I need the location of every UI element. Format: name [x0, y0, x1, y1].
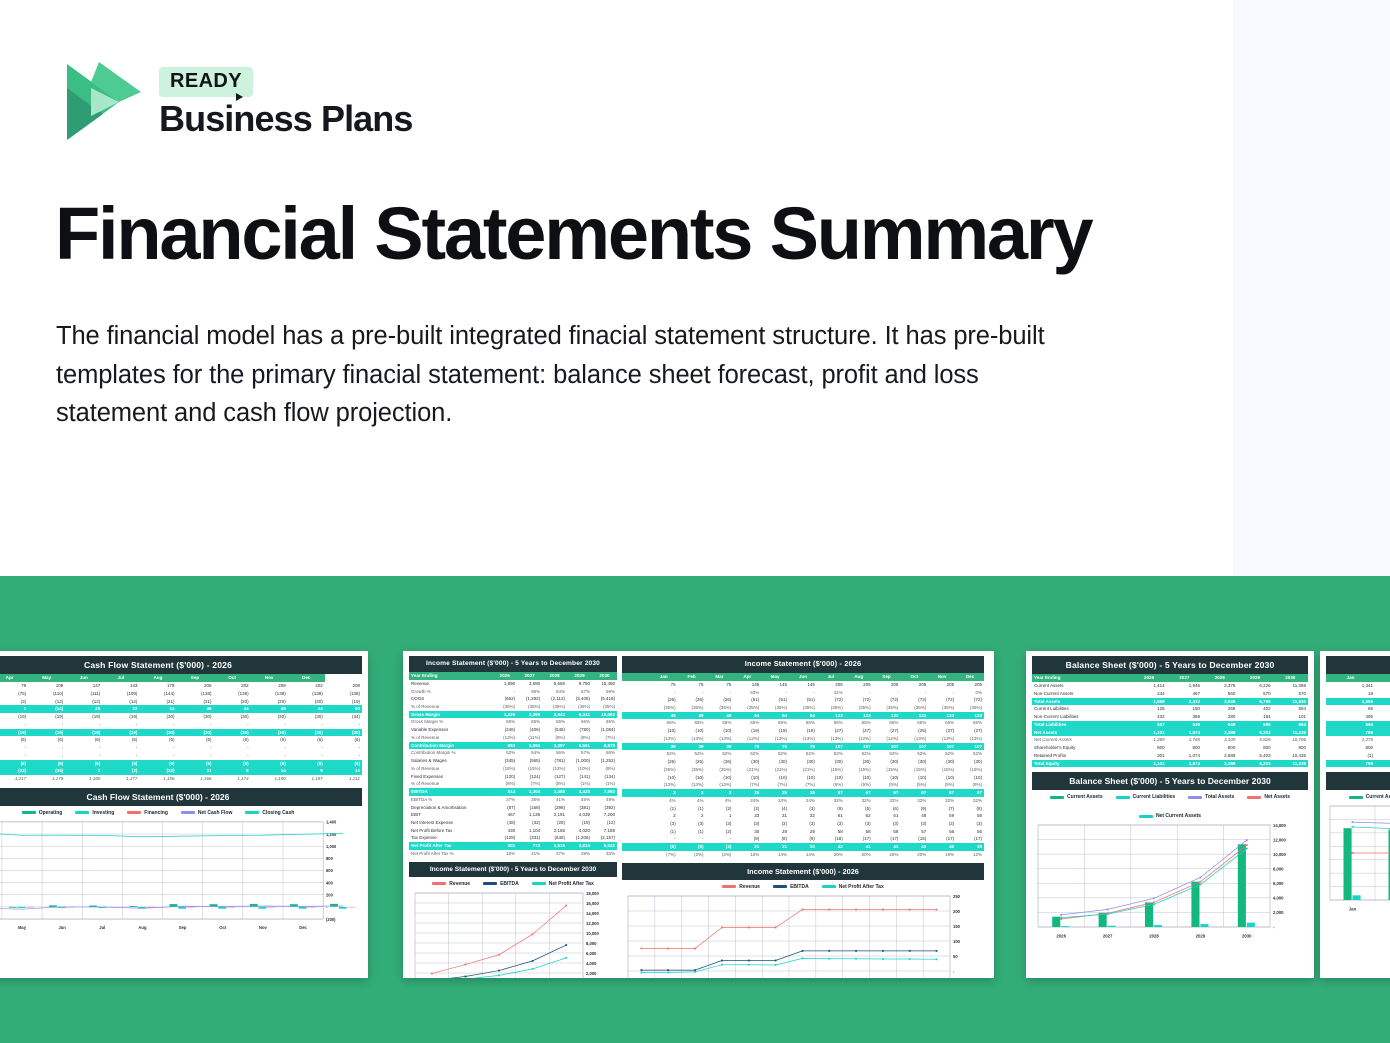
table-cell: 49 — [678, 712, 706, 720]
table-cell: 49 — [706, 712, 734, 720]
table-cell: (20) — [214, 698, 251, 706]
table-row: EBITDA %27%35%41%45%49% — [409, 796, 617, 804]
table-cell: 67% — [567, 688, 592, 696]
table-cell: (19) — [28, 713, 65, 721]
column-header: 2027 — [517, 672, 542, 680]
table-cell: 67 — [817, 789, 845, 797]
table-cell: 3,397 — [542, 742, 567, 750]
table-cell: (15%) — [817, 766, 845, 774]
table-cell: 1,166 — [176, 775, 213, 783]
table-cell: 33% — [592, 850, 617, 858]
legend-swatch — [483, 882, 497, 885]
table-cell: (12) — [28, 698, 65, 706]
table-cell: (138) — [325, 690, 362, 698]
balance-chart-title: Balance Sheet ($'000) - 5 Years to Decem… — [1032, 772, 1308, 790]
table-row: (19)(19)(19)(19)(30)(30)(30)(30)(30)(34) — [0, 713, 362, 721]
table-cell: (3) — [956, 820, 984, 828]
table-cell: (21) — [176, 698, 213, 706]
row-label: EBIT — [409, 811, 492, 819]
cashflow-chart-title: Cash Flow Statement ($'000) - 2026 — [0, 788, 362, 806]
table-row: (26)(26)(26)(30)(30)(30)(30)(30)(30)(30)… — [622, 758, 984, 766]
table-cell: (35%) — [928, 704, 956, 712]
svg-text:4,000: 4,000 — [1273, 896, 1284, 901]
table-cell: 65% — [845, 719, 873, 727]
table-cell: 1,874 — [1167, 729, 1202, 737]
table-cell: (12) — [102, 698, 139, 706]
table-cell: 46 — [176, 705, 213, 713]
table-cell: (30) — [214, 713, 251, 721]
row-label — [622, 696, 650, 704]
table-cell: 44 — [214, 705, 251, 713]
table-cell: 6,341 — [567, 711, 592, 719]
svg-text:14,000: 14,000 — [1273, 823, 1286, 828]
table-cell: (30) — [251, 729, 288, 737]
table-cell: (10) — [761, 774, 789, 782]
row-label — [622, 766, 650, 774]
table-cell: 1 — [65, 767, 102, 775]
table-cell: (3) — [789, 820, 817, 828]
table-cell: 800 — [1167, 744, 1202, 752]
table-cell: (10) — [789, 774, 817, 782]
table-row: Net Current Assets1,2891,7653,1095,82610… — [1032, 736, 1308, 744]
row-label — [622, 820, 650, 828]
table-cell: 65% — [592, 718, 617, 726]
table-cell: (6) — [102, 760, 139, 768]
table-cell: - — [706, 835, 734, 843]
table-cell: - — [65, 752, 102, 760]
table-cell: 52% — [817, 750, 845, 758]
table-cell: (19) — [0, 713, 28, 721]
table-cell: 1,211 — [325, 775, 362, 783]
table-cell: (13%) — [956, 735, 984, 743]
table-cell: 178 — [139, 682, 176, 690]
table-cell: 208 — [251, 682, 288, 690]
table-cell: 3 — [650, 789, 678, 797]
table-cell: (3) — [733, 820, 761, 828]
table-cell: 1,359 — [1326, 698, 1375, 706]
table-cell: 205 — [845, 681, 873, 689]
table-cell: (5) — [650, 843, 678, 851]
table-cell: 1,177 — [102, 775, 139, 783]
income-monthly-table-title: Income Statement ($'000) - 2026 — [622, 656, 984, 673]
table-cell: 1 — [0, 705, 28, 713]
table-cell: (20) — [288, 698, 325, 706]
table-cell: 65% — [873, 719, 901, 727]
table-cell: - — [139, 721, 176, 729]
table-cell: (10) — [928, 774, 956, 782]
table-cell: (75) — [0, 690, 28, 698]
table-cell: (20) — [251, 698, 288, 706]
table-cell: 52% — [956, 750, 984, 758]
table-row: (19)(19)(19)(19)(30)(30)(30)(30)(30)(30) — [0, 729, 362, 737]
table-cell: - — [251, 744, 288, 752]
table-cell: 205 — [956, 681, 984, 689]
column-header: Jun — [65, 674, 102, 682]
table-cell: 147 — [65, 682, 102, 690]
table-cell: 18 — [1326, 690, 1375, 698]
table-cell: (17) — [873, 835, 901, 843]
table-cell: (15) — [900, 835, 928, 843]
table-cell: 2,191 — [542, 811, 567, 819]
svg-text:800: 800 — [326, 856, 334, 861]
table-cell: 67 — [956, 789, 984, 797]
table-row: Current Liabilities125180269402594 — [1032, 705, 1308, 713]
legend-item: Revenue — [432, 881, 470, 887]
row-label — [622, 781, 650, 789]
table-row: (10)(10)(10)(19)(19)(19)(27)(27)(27)(25)… — [622, 727, 984, 735]
table-cell: (17) — [928, 835, 956, 843]
legend-swatch — [1349, 796, 1363, 799]
table-cell: 798 — [1375, 760, 1390, 768]
svg-text:May: May — [18, 925, 27, 930]
table-cell: (10) — [706, 727, 734, 735]
balance-chart-legend: Current AssetsCurrent LiabilitiesTotal A… — [1032, 790, 1308, 821]
table-cell: (5%) — [956, 781, 984, 789]
table-cell: (6) — [28, 760, 65, 768]
table-cell: 16% — [492, 850, 517, 858]
table-cell: (26) — [542, 819, 567, 827]
table-cell: 75 — [761, 743, 789, 751]
table-cell: (35%) — [650, 766, 678, 774]
table-cell: 3 — [678, 789, 706, 797]
table-cell: - — [28, 752, 65, 760]
table-cell: 20% — [817, 851, 845, 859]
table-row: Retained Profits3011,0742,5895,40310,435 — [1032, 752, 1308, 760]
legend-swatch — [75, 811, 89, 814]
table-cell: (6) — [176, 736, 213, 744]
income-monthly-chart-title: Income Statement ($'000) - 2026 — [622, 863, 984, 880]
table-cell: (51) — [761, 696, 789, 704]
table-cell: 3,378 — [1202, 682, 1237, 690]
row-label: % of Revenue — [409, 734, 492, 742]
table-cell: 35 — [733, 789, 761, 797]
table-cell: 402 — [1237, 705, 1272, 713]
svg-text:6,000: 6,000 — [1273, 881, 1284, 886]
legend-swatch — [722, 885, 736, 888]
table-cell: (331) — [517, 834, 542, 842]
table-cell: 1,658 — [1131, 698, 1166, 706]
table-cell: (6) — [0, 760, 28, 768]
balance-monthly-chart: JanFeb — [1326, 802, 1390, 914]
table-cell: 1,217 — [0, 775, 28, 783]
table-cell: 2,589 — [1202, 752, 1237, 760]
table-cell: (13%) — [492, 734, 517, 742]
column-header: Apr — [0, 674, 28, 682]
table-cell: 24% — [761, 797, 789, 805]
table-cell: 694 — [1273, 721, 1308, 729]
table-cell: (12%) — [542, 765, 567, 773]
table-cell: 6,203 — [1237, 729, 1272, 737]
cashflow-screenshot-card[interactable]: Cash Flow Statement ($'000) - 2026 AprMa… — [0, 651, 368, 978]
balance-sheet-screenshot-card[interactable]: Balance Sheet ($'000) - 5 Years to Decem… — [1026, 651, 1314, 978]
table-cell: 145 — [761, 681, 789, 689]
table-cell: (35%) — [567, 703, 592, 711]
table-row: Total Liabilities557539549595694 — [1032, 721, 1308, 729]
table-cell: 32 — [789, 812, 817, 820]
table-row: 1,2171,1791,1801,1771,1561,1661,1741,180… — [0, 775, 362, 783]
legend-swatch — [181, 811, 195, 814]
table-cell: (129) — [492, 834, 517, 842]
income-5yr-chart-legend: RevenueEBITDANet Profit After Tax — [409, 877, 617, 889]
table-cell: (9) — [900, 805, 928, 813]
table-cell: 14% — [789, 851, 817, 859]
svg-text:Jan: Jan — [1349, 907, 1357, 912]
table-cell: (18) — [817, 835, 845, 843]
table-cell: (26) — [678, 758, 706, 766]
table-cell: (381) — [567, 804, 592, 812]
table-cell: 1,993 — [517, 742, 542, 750]
table-cell: (5,418) — [592, 695, 617, 703]
table-cell: 11 — [176, 767, 213, 775]
table-cell: 269 — [1202, 705, 1237, 713]
row-label — [622, 805, 650, 813]
table-cell: - — [678, 689, 706, 697]
table-row: 1(14)2522144644494450 — [0, 705, 362, 713]
table-cell: 1,156 — [139, 775, 176, 783]
table-cell: 983 — [492, 742, 517, 750]
table-row: (1)(1)(2)302829585858575656 — [622, 828, 984, 836]
table-cell: 4,420 — [567, 788, 592, 796]
table-cell: (1) — [650, 828, 678, 836]
table-cell: 570 — [1273, 690, 1308, 698]
legend-label: Closing Cash — [262, 810, 294, 816]
table-cell: (9) — [789, 835, 817, 843]
income-screenshot-card[interactable]: Income Statement ($'000) - 5 Years to De… — [403, 651, 994, 978]
table-cell: (5%) — [845, 781, 873, 789]
table-cell: (8) — [761, 835, 789, 843]
row-label — [622, 851, 650, 859]
table-row: Tax Expense(129)(331)(649)(1,206)(2,157) — [409, 834, 617, 842]
table-cell: - — [288, 752, 325, 760]
table-cell: 205 — [873, 681, 901, 689]
table-cell: (2,113) — [542, 695, 567, 703]
balance-sheet-chart: 14,00012,00010,0008,0006,0004,0002,000-2… — [1032, 821, 1308, 941]
svg-text:12,000: 12,000 — [586, 920, 599, 925]
table-cell: - — [139, 752, 176, 760]
table-cell: - — [65, 744, 102, 752]
table-cell: (7%) — [650, 851, 678, 859]
table-cell: (141) — [567, 773, 592, 781]
table-cell: (10%) — [567, 765, 592, 773]
table-cell: (35%) — [817, 704, 845, 712]
row-label — [622, 750, 650, 758]
cashflow-chart: 1,4001,2001,000800600400200-(200)AprMayJ… — [0, 818, 362, 933]
table-cell: 28 — [761, 828, 789, 836]
table-cell: (5) — [678, 843, 706, 851]
row-label: Shareholder's Equity — [1032, 744, 1131, 752]
table-cell: 10,766 — [1273, 736, 1308, 744]
table-cell: - — [102, 744, 139, 752]
table-row: Net Profit After Tax3017731,5152,8145,03… — [409, 842, 617, 850]
table-cell: 11,930 — [1273, 698, 1308, 706]
column-header: 2028 — [542, 672, 567, 680]
table-cell: - — [325, 744, 362, 752]
table-cell: 570 — [1237, 690, 1272, 698]
table-cell: (15%) — [517, 765, 542, 773]
table-row: 221333132616261485958 — [622, 812, 984, 820]
table-cell: 52% — [678, 750, 706, 758]
table-cell: (5%) — [928, 781, 956, 789]
table-cell: 52% — [789, 750, 817, 758]
table-cell: 14 — [139, 705, 176, 713]
table-cell: 799 — [1326, 729, 1375, 737]
table-cell: (19) — [733, 727, 761, 735]
table-cell: 65% — [706, 719, 734, 727]
table-cell: 19% — [928, 851, 956, 859]
svg-text:50: 50 — [953, 953, 958, 958]
table-cell: 75 — [706, 681, 734, 689]
table-row: Gross Margin1,2292,3993,9436,34110,062 — [409, 711, 617, 719]
table-cell: (6) — [251, 760, 288, 768]
table-cell: (38) — [28, 767, 65, 775]
row-label: Depreciation & Amortisation — [409, 804, 492, 812]
table-cell: 42 — [817, 843, 845, 851]
table-header-row: Year Ending20262027202820292030 — [1032, 674, 1308, 682]
table-cell: 58% — [592, 749, 617, 757]
table-cell: (1,000) — [567, 757, 592, 765]
table-cell: 6,226 — [1237, 682, 1272, 690]
table-cell: 3,109 — [1202, 736, 1237, 744]
table-cell: (21%) — [789, 766, 817, 774]
table-cell: 65% — [928, 719, 956, 727]
table-row: Current Assets1,4141,9453,3786,22611,359 — [1032, 682, 1308, 690]
table-cell: 5,656 — [542, 680, 567, 688]
svg-text:200: 200 — [326, 892, 334, 897]
table-row: Total Assets1,6582,4123,9386,79611,930 — [1032, 698, 1308, 706]
legend-label: Operating — [39, 810, 63, 816]
table-cell: 1,765 — [1167, 736, 1202, 744]
table-cell: 7,188 — [592, 827, 617, 835]
table-row: % of Revenue(35%)(35%)(35%)(35%)(35%) — [409, 703, 617, 711]
row-label: Retained Profits — [1032, 752, 1131, 760]
table-cell: 39 — [956, 843, 984, 851]
table-cell: (7%) — [592, 734, 617, 742]
column-header: 2029 — [1237, 674, 1272, 682]
table-cell: 39 — [706, 743, 734, 751]
row-label: Current Liabilities — [1032, 705, 1131, 713]
table-cell: 49% — [592, 796, 617, 804]
column-header: Jun — [789, 673, 817, 681]
legend-item: EBITDA — [773, 884, 809, 890]
table-row: (13%)(13%)(13%)(7%)(7%)(7%)(5%)(5%)(5%)(… — [622, 781, 984, 789]
table-cell: 52% — [873, 750, 901, 758]
table-row: (75)(110)(111)(109)(144)(138)(136)(139)(… — [0, 690, 362, 698]
table-cell: (13%) — [678, 781, 706, 789]
table-cell: 65% — [956, 719, 984, 727]
legend-swatch — [773, 885, 787, 888]
brand-name-text: Business Plans — [159, 98, 413, 139]
table-cell: 52% — [733, 750, 761, 758]
table-cell: 56% — [542, 749, 567, 757]
table-cell: (3) — [873, 820, 901, 828]
table-cell: 549 — [1202, 721, 1237, 729]
table-cell: 65% — [492, 718, 517, 726]
legend-swatch — [1247, 796, 1261, 799]
table-cell: (19) — [0, 729, 28, 737]
table-cell: 5,032 — [592, 842, 617, 850]
legend-label: Net Current Assets — [1156, 813, 1201, 819]
table-cell: 4% — [706, 797, 734, 805]
row-label — [622, 789, 650, 797]
table-cell: 1,229 — [492, 711, 517, 719]
table-cell: 32% — [845, 797, 873, 805]
table-row: (1)(1)(2)(2)(4)(3)(9)(5)(6)(9)(7)(8) — [622, 805, 984, 813]
table-cell: (3,405) — [567, 695, 592, 703]
table-cell: (6) — [214, 736, 251, 744]
row-label: EBITDA — [409, 788, 492, 796]
row-label: Non-Current Assets — [1032, 690, 1131, 698]
table-cell: - — [706, 689, 734, 697]
table-cell: (780) — [567, 726, 592, 734]
table-cell: (21) — [139, 698, 176, 706]
table-cell: 1,180 — [251, 775, 288, 783]
table-row: 6572 — [1326, 705, 1390, 713]
table-cell: 72 — [1375, 705, 1390, 713]
table-cell: 773 — [517, 842, 542, 850]
table-cell: (6) — [873, 805, 901, 813]
table-cell: 64% — [542, 688, 567, 696]
table-row: % of Revenue(8%)(7%)(5%)(1%)(1%) — [409, 780, 617, 788]
balance-table-title: Balance Sheet ($'000) - 5 Years to Decem… — [1032, 656, 1308, 674]
table-row: (6)(6)(6)(6)(6)(6)(6)(6)(6)(6) — [0, 760, 362, 768]
table-cell: 75 — [733, 743, 761, 751]
balance-sheet-monthly-card[interactable]: JanFeb 1,3411,32318361,3591,359657249548… — [1320, 651, 1390, 978]
table-row: 79109147143178205202208202208 — [0, 682, 362, 690]
table-cell: (1) — [678, 828, 706, 836]
table-cell: 1,101 — [1131, 729, 1166, 737]
table-header-row: Year Ending20262027202820292030 — [409, 672, 617, 680]
svg-text:600: 600 — [326, 868, 334, 873]
svg-text:18,000: 18,000 — [586, 890, 599, 895]
table-cell: - — [176, 752, 213, 760]
table-cell: (7%) — [789, 781, 817, 789]
table-cell: (35%) — [706, 766, 734, 774]
legend-label: EBITDA — [790, 884, 809, 890]
table-cell: - — [650, 835, 678, 843]
svg-text:-: - — [326, 904, 328, 909]
table-cell: (30) — [214, 729, 251, 737]
table-cell: 107 — [817, 743, 845, 751]
table-cell: (565) — [517, 757, 542, 765]
row-label: Revenue — [409, 680, 492, 688]
table-cell: 20 — [789, 843, 817, 851]
table-cell: (30) — [817, 758, 845, 766]
table-cell: 52% — [928, 750, 956, 758]
table-cell: (138) — [176, 690, 213, 698]
legend-swatch — [127, 811, 141, 814]
table-cell: (781) — [542, 757, 567, 765]
svg-text:Jul: Jul — [99, 925, 105, 930]
table-cell: (30) — [139, 713, 176, 721]
table-cell: 67 — [900, 789, 928, 797]
table-cell: 489 — [1375, 713, 1390, 721]
table-cell: (7%) — [761, 781, 789, 789]
table-cell: - — [845, 689, 873, 697]
table-cell: 143 — [102, 682, 139, 690]
table-cell: (298) — [542, 804, 567, 812]
table-cell: 7,592 — [592, 788, 617, 796]
table-cell: (35%) — [761, 704, 789, 712]
table-cell: 29 — [789, 828, 817, 836]
table-cell: 4% — [678, 797, 706, 805]
table-cell: 1,359 — [1375, 698, 1390, 706]
table-cell: - — [102, 752, 139, 760]
column-header: Oct — [214, 674, 251, 682]
column-header: Aug — [139, 674, 176, 682]
legend-item: Operating — [22, 810, 63, 816]
table-row: ---93%--41%----0% — [622, 689, 984, 697]
table-cell: (406) — [517, 726, 542, 734]
